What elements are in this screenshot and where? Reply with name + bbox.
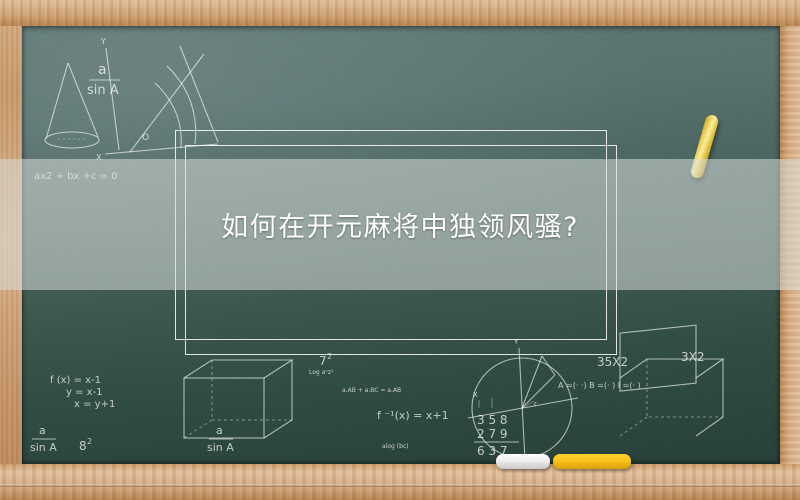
frame-top-rail <box>0 0 800 26</box>
law-of-sines-denominator: sin A <box>87 83 119 98</box>
y-equation: y = x-1 <box>66 387 103 398</box>
cube-left-drawing <box>184 360 292 438</box>
mult-35x2: 35X2 <box>597 355 628 369</box>
circle-axes-drawing: Y r <box>468 338 578 460</box>
eight-power: 8 <box>79 439 87 453</box>
radius-label: r <box>534 400 537 408</box>
matrix-expression: A =(· ·) B =(· ) I =(· ) <box>558 381 641 390</box>
chalkboard-banner: a sin A ax2 + bx +c = 0 Y X O <box>0 0 800 500</box>
frame-bottom-tray <box>0 464 800 500</box>
mult-3x2: 3X2 <box>681 350 705 364</box>
faint-vector-equation: a.AB + a.BC = a.AB <box>342 387 401 394</box>
cone-drawing <box>45 63 99 148</box>
white-chalk-piece <box>496 454 550 469</box>
division-row-2: 2 7 9 <box>477 427 508 441</box>
ratio-a-1: a <box>39 424 46 437</box>
angle-o-label: O <box>142 133 149 143</box>
inverse-function-equation: f ⁻¹(x) = x+1 <box>377 409 449 422</box>
page-title: 如何在开元麻将中独领风骚? <box>0 159 800 290</box>
alog-expression: alog (bc) <box>382 443 409 450</box>
tray-lip <box>0 484 800 487</box>
function-equations: f (x) = x-1 y = x-1 x = y+1 <box>50 375 115 410</box>
ratio-sina-2: sin A <box>207 441 234 454</box>
fx-equation: f (x) = x-1 <box>50 375 101 386</box>
x-equation: x = y+1 <box>74 399 115 410</box>
yellow-chalk-piece <box>553 454 631 469</box>
law-of-sines-numerator: a <box>98 62 107 78</box>
log-label: Log aⁿz¹ <box>309 369 334 376</box>
eight-exponent: 2 <box>87 437 92 446</box>
ratio-sina-1: sin A <box>30 441 57 454</box>
axis-y-label-top: Y <box>100 37 106 46</box>
ratio-a-2: a <box>216 424 223 437</box>
long-division-block: 3 5 8 2 7 9 6 3 7 <box>474 398 519 458</box>
seven-power: 7 <box>319 354 327 368</box>
